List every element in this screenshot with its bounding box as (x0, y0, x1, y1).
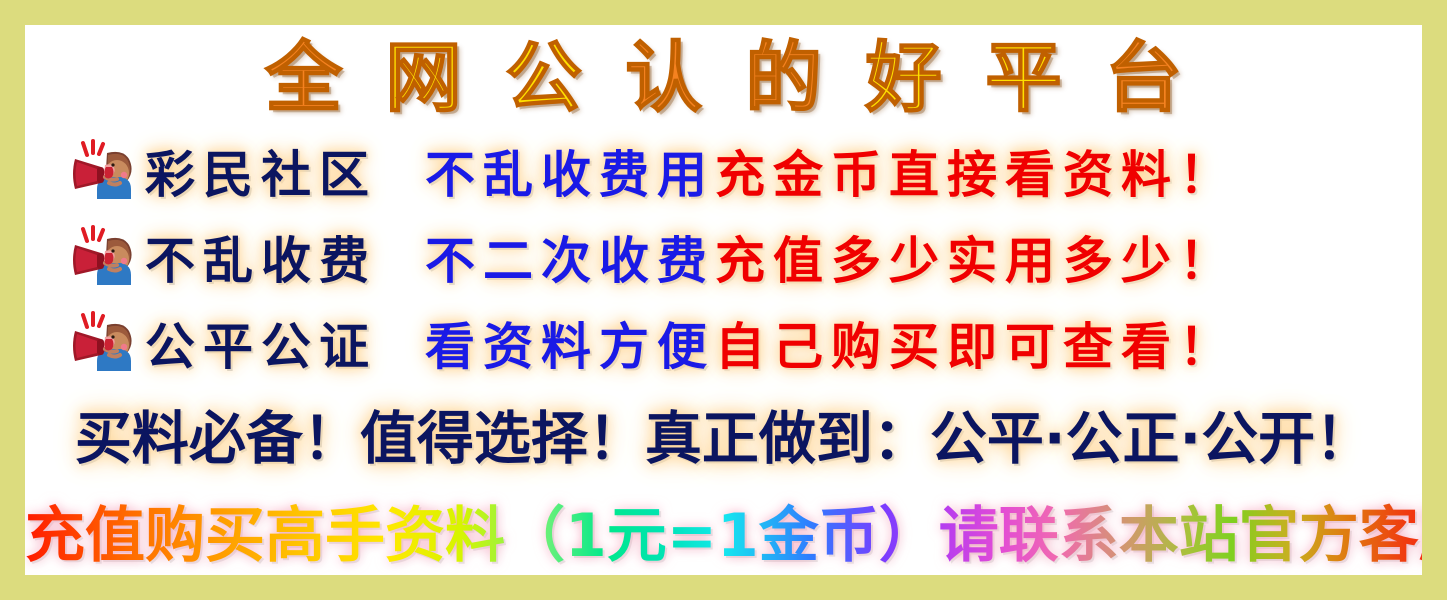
megaphone-icon (67, 139, 139, 203)
slogan-line: 买料必备！值得选择！真正做到：公平·公正·公开！ (25, 393, 1422, 485)
megaphone-icon (67, 311, 139, 375)
headline-char-4: 认 (626, 31, 702, 125)
headline-char-3: 公 (506, 31, 582, 125)
row1-red-text: 充金币直接看资料！ (715, 135, 1237, 215)
row2-red-text: 充值多少实用多少！ (715, 221, 1237, 301)
row3-navy-text: 公平公证 (145, 307, 377, 387)
row1-blue-text: 不乱收费用 (425, 135, 715, 215)
headline-char-1: 全 (266, 31, 342, 125)
page-title: 全网公认的好平台 (25, 31, 1422, 125)
row2-blue-text: 不二次收费 (425, 221, 715, 301)
feature-row: 公平公证看资料方便自己购买即可查看！ (25, 303, 1422, 383)
headline-char-8: 台 (1106, 31, 1182, 125)
row3-blue-text: 看资料方便 (425, 307, 715, 387)
recharge-cta-text: 充值购买高手资料（1元=1金币）请联系本站官方客服 (25, 490, 1422, 575)
megaphone-icon (67, 225, 139, 289)
headline-char-6: 好 (866, 31, 942, 125)
recharge-cta-line: 充值购买高手资料（1元=1金币）请联系本站官方客服 (25, 490, 1422, 575)
headline-char-5: 的 (746, 31, 822, 125)
feature-row: 彩民社区不乱收费用充金币直接看资料！ (25, 131, 1422, 211)
headline-char-7: 平 (986, 31, 1062, 125)
row2-navy-text: 不乱收费 (145, 221, 377, 301)
row1-navy-text: 彩民社区 (145, 135, 377, 215)
row3-red-text: 自己购买即可查看！ (715, 307, 1237, 387)
promo-banner: 全网公认的好平台 (25, 25, 1422, 575)
feature-row: 不乱收费不二次收费充值多少实用多少！ (25, 217, 1422, 297)
headline-char-2: 网 (386, 31, 462, 125)
